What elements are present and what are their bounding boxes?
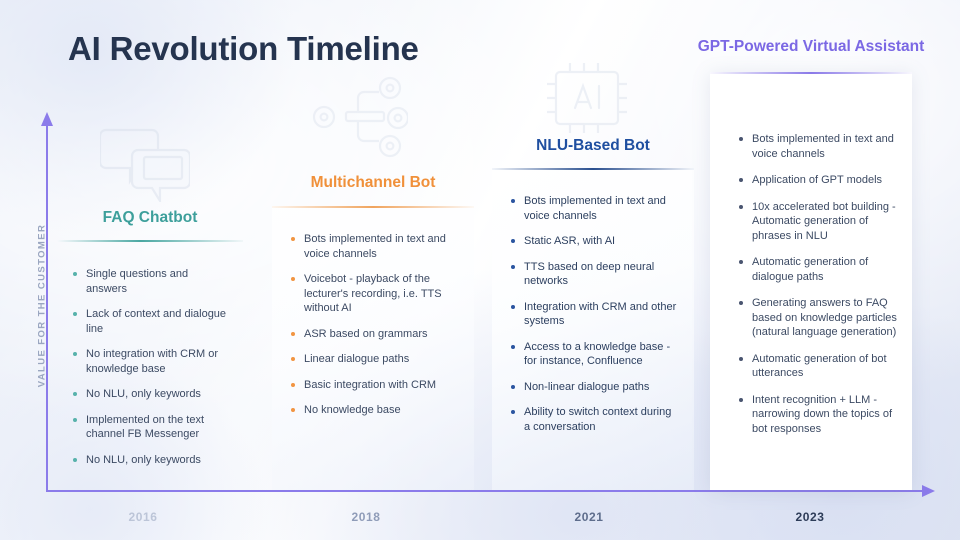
stage-bullets-nlu-based-bot: Bots implemented in text and voice chann… [510, 194, 678, 445]
stage-divider-multichannel-bot [272, 206, 474, 208]
ai-chip-icon [544, 56, 630, 145]
year-tick-2016: 2016 [103, 510, 183, 524]
list-item: Access to a knowledge base - for instanc… [510, 340, 678, 369]
list-item: No integration with CRM or knowledge bas… [72, 347, 232, 376]
stage-heading-multichannel-bot: Multichannel Bot [275, 174, 471, 192]
slide-canvas: AI Revolution Timeline [0, 0, 960, 540]
stage-heading-nlu-based-bot: NLU-Based Bot [495, 137, 691, 155]
stage-divider-gpt-powered-virtual-assistant [710, 72, 912, 74]
list-item: Lack of context and dialogue line [72, 307, 232, 336]
y-axis-label: VALUE FOR THE CUSTOMER [37, 206, 48, 406]
list-item: Automatic generation of dialogue paths [738, 255, 898, 284]
list-item: Static ASR, with AI [510, 234, 678, 249]
list-item: Basic integration with CRM [290, 378, 456, 393]
list-item: ASR based on grammars [290, 327, 456, 342]
list-item: No NLU, only keywords [72, 453, 232, 468]
list-item: Generating answers to FAQ based on knowl… [738, 296, 898, 340]
year-tick-2021: 2021 [549, 510, 629, 524]
year-tick-2018: 2018 [326, 510, 406, 524]
stage-bullets-faq-chatbot: Single questions and answers Lack of con… [72, 267, 232, 478]
stage-divider-nlu-based-bot [492, 168, 694, 170]
x-axis-line [46, 490, 925, 492]
list-item: Integration with CRM and other systems [510, 300, 678, 329]
list-item: No knowledge base [290, 403, 456, 418]
stage-bullets-gpt-powered-virtual-assistant: Bots implemented in text and voice chann… [738, 132, 898, 448]
stage-heading-faq-chatbot: FAQ Chatbot [60, 209, 240, 227]
y-axis-arrow-icon [41, 112, 53, 126]
network-nodes-icon [312, 74, 408, 165]
list-item: Bots implemented in text and voice chann… [738, 132, 898, 161]
list-item: Intent recognition + LLM - narrowing dow… [738, 393, 898, 437]
stage-divider-faq-chatbot [57, 240, 243, 242]
chat-bubbles-icon [100, 124, 190, 207]
list-item: Ability to switch context during a conve… [510, 405, 678, 434]
list-item: No NLU, only keywords [72, 387, 232, 402]
list-item: 10x accelerated bot building - Automatic… [738, 200, 898, 244]
list-item: Bots implemented in text and voice chann… [510, 194, 678, 223]
stage-bullets-multichannel-bot: Bots implemented in text and voice chann… [290, 232, 456, 429]
list-item: Voicebot - playback of the lecturer's re… [290, 272, 456, 316]
page-title: AI Revolution Timeline [68, 30, 419, 68]
list-item: Automatic generation of bot utterances [738, 352, 898, 381]
list-item: Linear dialogue paths [290, 352, 456, 367]
list-item: Single questions and answers [72, 267, 232, 296]
list-item: TTS based on deep neural networks [510, 260, 678, 289]
list-item: Bots implemented in text and voice chann… [290, 232, 456, 261]
year-tick-2023: 2023 [770, 510, 850, 524]
list-item: Non-linear dialogue paths [510, 380, 678, 395]
list-item: Implemented on the text channel FB Messe… [72, 413, 232, 442]
x-axis-arrow-icon [922, 485, 935, 497]
stage-heading-gpt-powered-virtual-assistant: GPT-Powered Virtual Assistant [692, 38, 930, 56]
list-item: Application of GPT models [738, 173, 898, 188]
